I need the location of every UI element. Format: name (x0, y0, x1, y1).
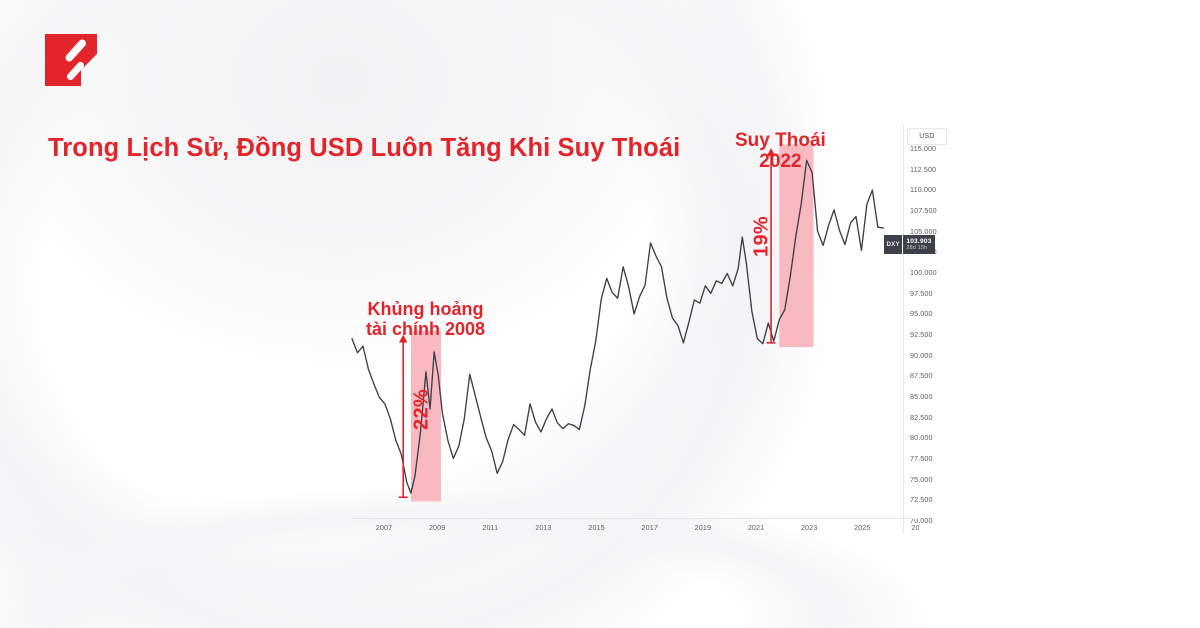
time-tick: 2019 (695, 523, 711, 532)
badge-symbol-label: DXY (884, 235, 902, 254)
time-tick: 2011 (482, 523, 498, 532)
current-price-badge[interactable]: DXY 103.903 28d 15h (884, 235, 935, 254)
feather-square-logo-icon (45, 34, 97, 86)
time-tick: 2021 (748, 523, 764, 532)
time-axis[interactable]: 2007200920112013201520172019202120232025… (352, 518, 918, 539)
time-tick: 2013 (535, 523, 551, 532)
annotation-recession-2022: Suy Thoái 2022 (735, 130, 826, 173)
price-tick: 90.000 (903, 351, 949, 360)
highlight-band-2022 (779, 145, 813, 347)
time-tick: 2017 (642, 523, 658, 532)
price-tick: 80.000 (903, 433, 949, 442)
badge-bar-countdown: 28d 15h (906, 245, 931, 251)
price-tick: 95.000 (903, 309, 949, 318)
price-tick: 87.500 (903, 371, 949, 380)
brand-logo (45, 34, 97, 86)
time-tick: 2025 (854, 523, 870, 532)
annotation-crisis-2008: Khủng hoảng tài chính 2008 (366, 299, 485, 339)
price-tick: 75.000 (903, 475, 949, 484)
price-tick: 107.500 (903, 206, 949, 215)
badge-last-price: 103.903 (906, 238, 931, 245)
price-tick: 72.500 (903, 495, 949, 504)
price-tick: 100.000 (903, 268, 949, 277)
price-scale-currency-label: USD (907, 128, 947, 145)
time-tick: 2007 (376, 523, 392, 532)
price-tick: 115.000 (903, 144, 949, 153)
badge-value-group: 103.903 28d 15h (903, 235, 934, 254)
time-tick: 2009 (429, 523, 445, 532)
gain-arrow-2008 (399, 335, 408, 498)
price-tick: 82.500 (903, 413, 949, 422)
time-tick: 2015 (588, 523, 604, 532)
price-scale[interactable]: USD 115.000112.500110.000107.500105.0001… (903, 124, 949, 534)
gain-label-2022: 19% (751, 214, 774, 260)
price-tick: 92.500 (903, 330, 949, 339)
time-tick: 2023 (801, 523, 817, 532)
price-tick: 77.500 (903, 454, 949, 463)
price-tick: 110.000 (903, 185, 949, 194)
gain-label-2008: 22% (411, 387, 434, 433)
price-tick: 97.500 (903, 289, 949, 298)
price-tick: 112.500 (903, 165, 949, 174)
time-tick: 20 (911, 523, 919, 532)
price-tick: 85.000 (903, 392, 949, 401)
